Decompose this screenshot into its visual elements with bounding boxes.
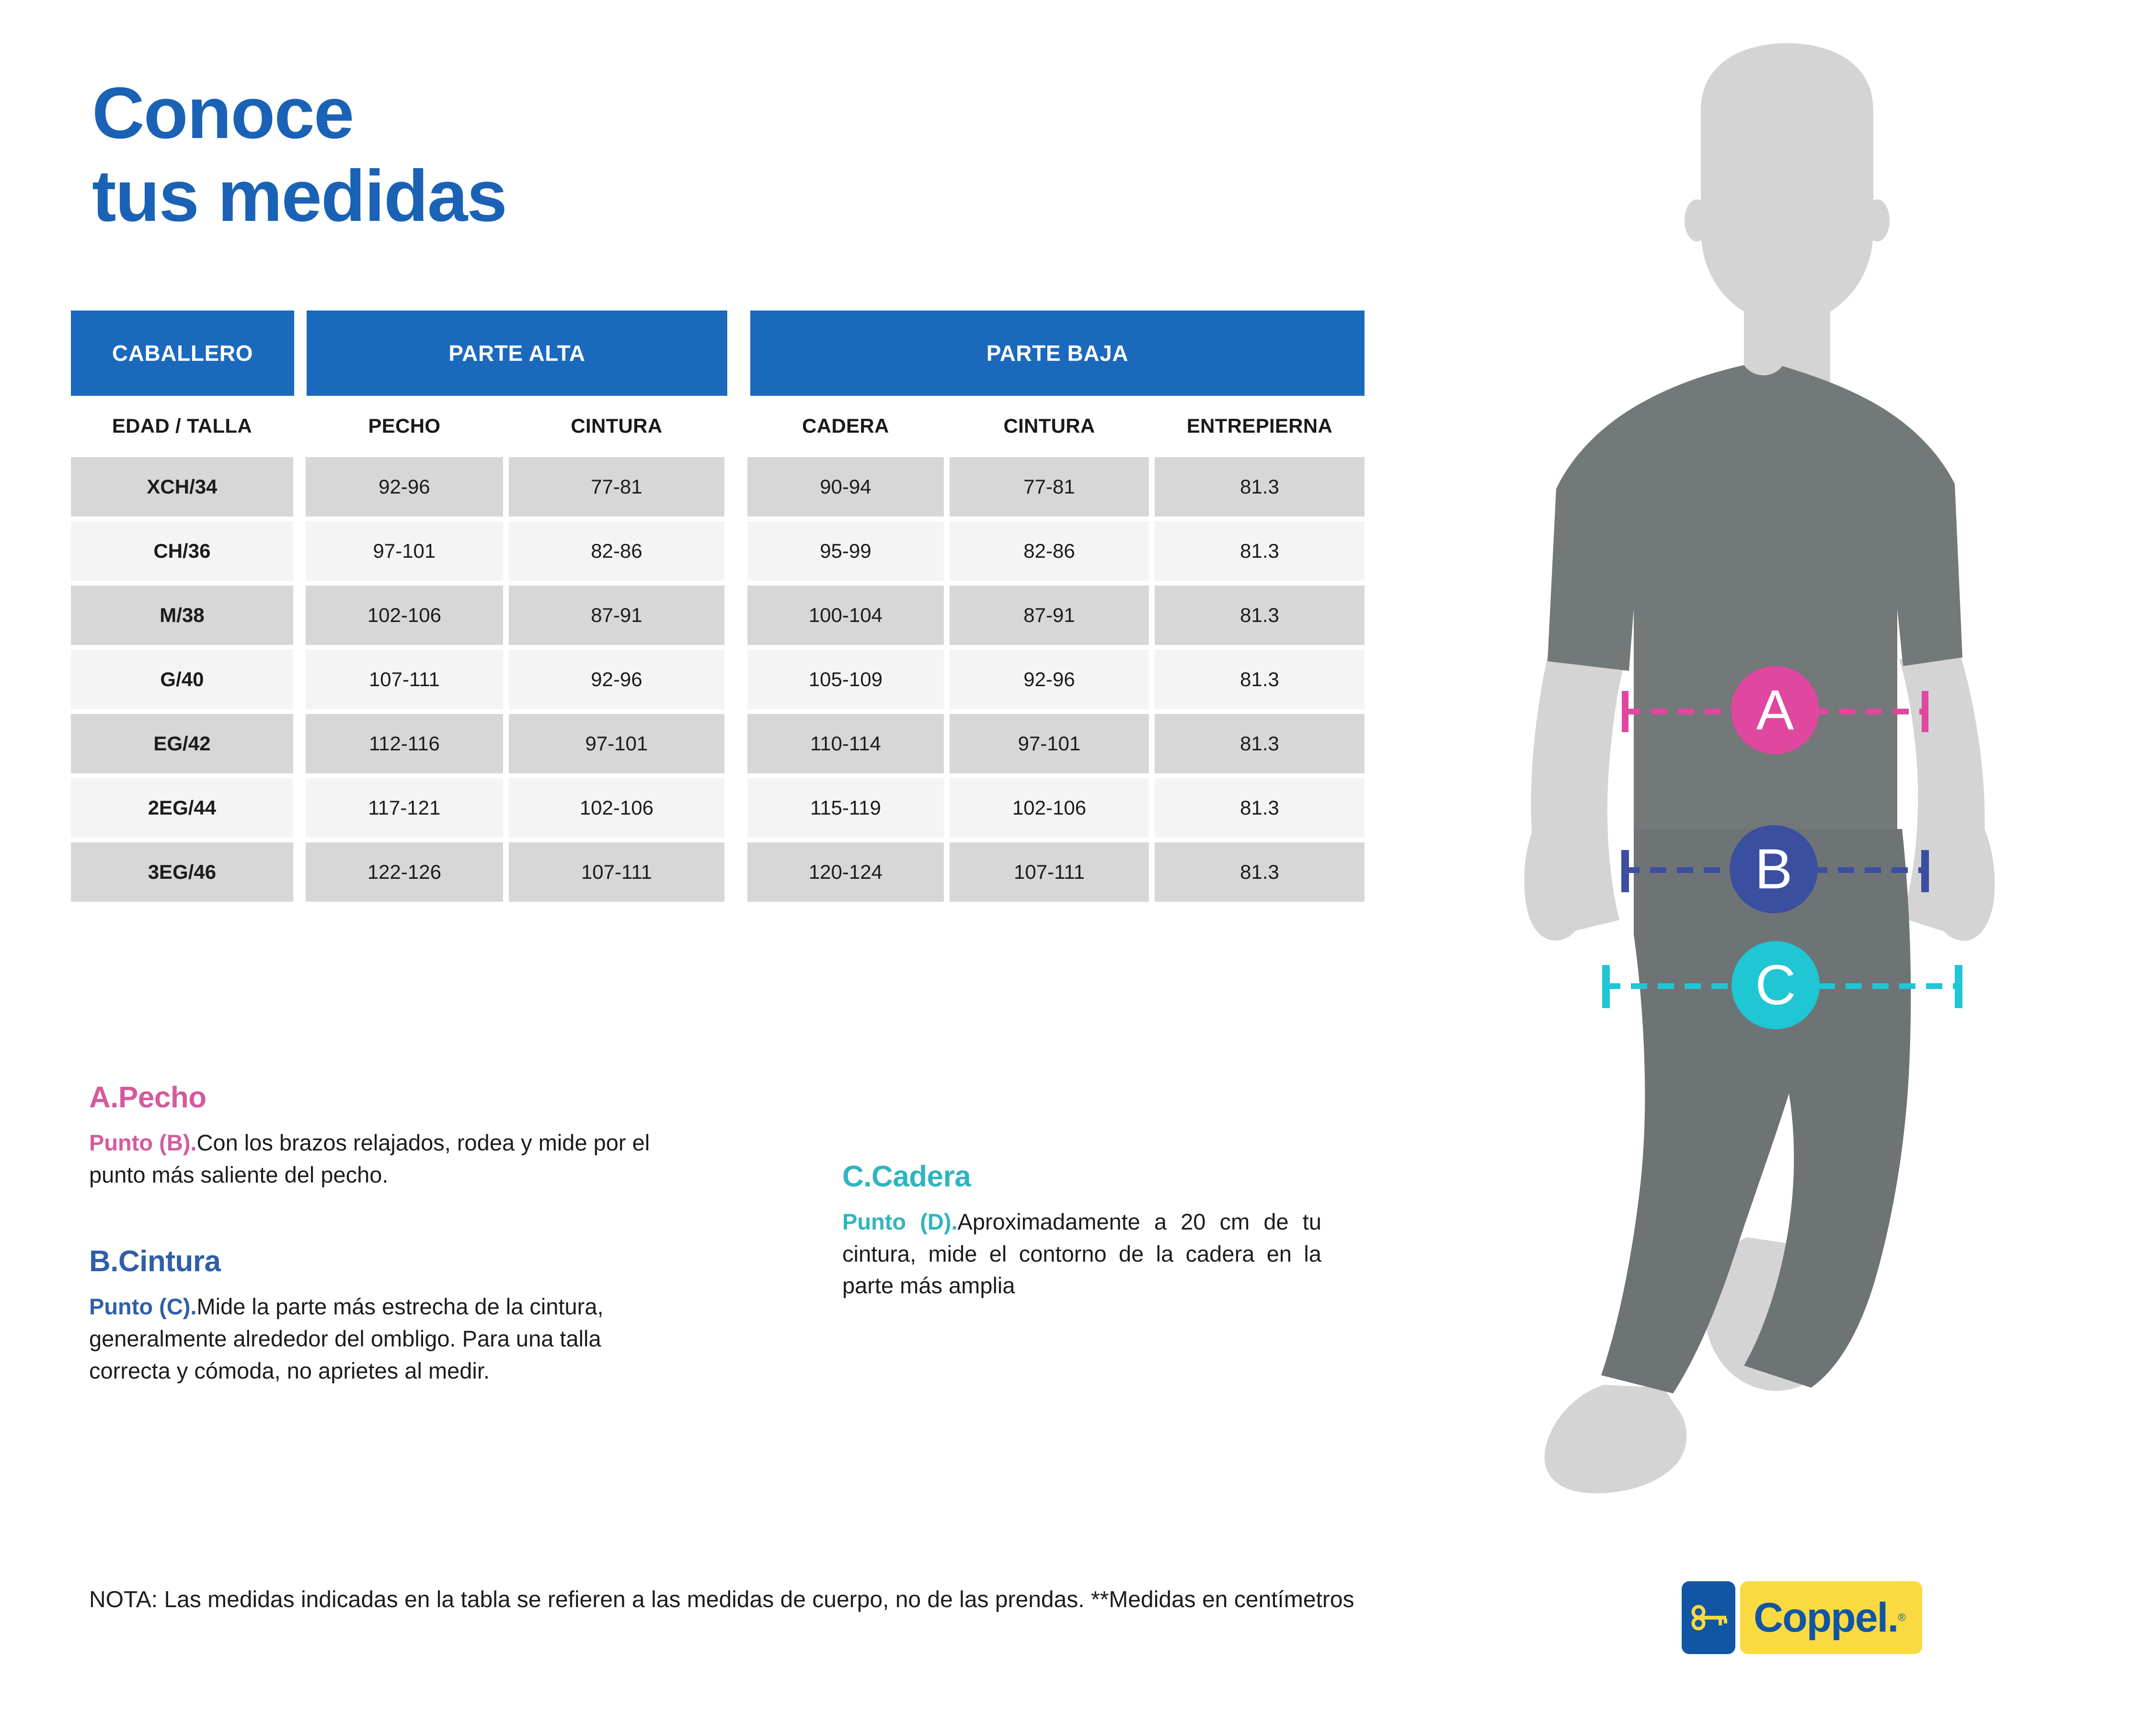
description-heading-cadera: C.Cadera [842,1160,1321,1194]
table-cell-entrepierna: 81.3 [1155,842,1365,902]
page-title: Conoce tus medidas [92,72,954,238]
title-line-1: Conoce [92,72,954,155]
table-cell-size: 2EG/44 [71,778,293,838]
table-row: 2EG/44117-121102-106115-119102-10681.3 [71,778,1365,838]
column-header-edad-talla: EDAD / TALLA [71,400,293,452]
table-cell-cadera: 100-104 [747,586,944,645]
table-row-gap [71,517,1365,521]
table-cell-size: CH/36 [71,521,293,581]
table-row: EG/42112-11697-101110-11497-10181.3 [71,714,1365,773]
male-figure-illustration: A B C [1476,43,2099,1538]
coppel-wordmark-period: . [1887,1597,1898,1638]
marker-a-label: A [1756,678,1794,742]
table-column-header-row: EDAD / TALLA PECHO CINTURA CADERA CINTUR… [71,400,1365,452]
table-cell-cintura-baja: 77-81 [950,457,1149,517]
table-cell-pecho: 122-126 [306,842,503,902]
table-cell-cadera: 90-94 [747,457,944,517]
table-cell-cadera: 115-119 [747,778,944,838]
table-cell-entrepierna: 81.3 [1155,457,1365,517]
description-body-pecho: Punto (B).Con los brazos relajados, rode… [89,1127,683,1191]
table-cell-cintura-baja: 107-111 [950,842,1149,902]
table-cell-cintura-baja: 87-91 [950,586,1149,645]
table-cell-pecho: 107-111 [306,650,503,709]
measurements-table: CABALLERO PARTE ALTA PARTE BAJA EDAD / T… [71,310,1365,902]
table-row: 3EG/46122-126107-111120-124107-11181.3 [71,842,1365,902]
description-body-cadera: Punto (D).Aproximadamente a 20 cm de tu … [842,1206,1321,1302]
description-cadera: C.Cadera Punto (D).Aproximadamente a 20 … [842,1160,1321,1302]
description-cintura: B.Cintura Punto (C).Mide la parte más es… [89,1244,683,1387]
table-cell-cintura-baja: 92-96 [950,650,1149,709]
table-cell-entrepierna: 81.3 [1155,714,1365,773]
table-cell-cadera: 120-124 [747,842,944,902]
table-cell-pecho: 117-121 [306,778,503,838]
description-heading-pecho: A.Pecho [89,1081,683,1115]
table-cell-cadera: 95-99 [747,521,944,581]
table-body: XCH/3492-9677-8190-9477-8181.3CH/3697-10… [71,452,1365,902]
description-lead-cadera: Punto (D). [842,1209,958,1234]
group-header-parte-baja: PARTE BAJA [750,310,1365,396]
table-cell-cintura-alta: 92-96 [509,650,724,709]
table-cell-cadera: 110-114 [747,714,944,773]
description-lead-pecho: Punto (B). [89,1130,197,1155]
coppel-wordmark: Coppel.® [1740,1581,1922,1654]
descriptions-left-column: A.Pecho Punto (B).Con los brazos relajad… [89,1081,683,1387]
table-row: XCH/3492-9677-8190-9477-8181.3 [71,457,1365,517]
group-header-caballero: CABALLERO [71,310,294,396]
descriptions-middle-column: C.Cadera Punto (D).Aproximadamente a 20 … [842,1160,1321,1302]
table-row-gap [71,709,1365,714]
table-cell-cintura-alta: 102-106 [509,778,724,838]
marker-c-label: C [1755,954,1796,1017]
table-cell-cintura-alta: 77-81 [509,457,724,517]
table-cell-pecho: 112-116 [306,714,503,773]
table-cell-cadera: 105-109 [747,650,944,709]
table-cell-size: EG/42 [71,714,293,773]
description-pecho: A.Pecho Punto (B).Con los brazos relajad… [89,1081,683,1191]
table-cell-size: 3EG/46 [71,842,293,902]
table-cell-cintura-baja: 97-101 [950,714,1149,773]
table-group-header-row: CABALLERO PARTE ALTA PARTE BAJA [71,310,1365,396]
table-cell-cintura-baja: 82-86 [950,521,1149,581]
description-lead-cintura: Punto (C). [89,1294,197,1319]
table-cell-pecho: 97-101 [306,521,503,581]
table-row-gap [71,452,1365,457]
table-cell-pecho: 102-106 [306,586,503,645]
table-cell-entrepierna: 81.3 [1155,650,1365,709]
registered-mark: ® [1898,1611,1905,1624]
group-header-parte-alta: PARTE ALTA [307,310,727,396]
title-line-2: tus medidas [92,155,954,238]
description-body-cintura: Punto (C).Mide la parte más estrecha de … [89,1291,683,1387]
table-cell-cintura-alta: 107-111 [509,842,724,902]
table-row-gap [71,581,1365,586]
table-row: M/38102-10687-91100-10487-9181.3 [71,586,1365,645]
table-row: G/40107-11192-96105-10992-9681.3 [71,650,1365,709]
size-chart-page: Conoce tus medidas CABALLERO PARTE ALTA … [0,0,2156,1725]
coppel-wordmark-text: Coppel [1754,1597,1887,1638]
column-header-entrepierna: ENTREPIERNA [1155,400,1365,452]
table-cell-size: G/40 [71,650,293,709]
column-header-cintura-baja: CINTURA [950,400,1149,452]
column-header-pecho: PECHO [306,400,503,452]
coppel-logo: Coppel.® [1682,1581,1922,1654]
table-cell-cintura-alta: 82-86 [509,521,724,581]
description-heading-cintura: B.Cintura [89,1244,683,1278]
column-header-cadera: CADERA [747,400,944,452]
description-spacer [89,1191,683,1244]
key-icon [1682,1581,1735,1654]
table-cell-cintura-alta: 97-101 [509,714,724,773]
table-cell-entrepierna: 81.3 [1155,586,1365,645]
column-header-cintura-alta: CINTURA [509,400,724,452]
table-cell-entrepierna: 81.3 [1155,778,1365,838]
table-row-gap [71,773,1365,778]
table-cell-cintura-alta: 87-91 [509,586,724,645]
table-row-gap [71,645,1365,650]
table-row-gap [71,838,1365,842]
table-row: CH/3697-10182-8695-9982-8681.3 [71,521,1365,581]
table-cell-entrepierna: 81.3 [1155,521,1365,581]
table-cell-size: XCH/34 [71,457,293,517]
marker-b-label: B [1755,838,1793,901]
table-cell-cintura-baja: 102-106 [950,778,1149,838]
table-cell-pecho: 92-96 [306,457,503,517]
table-cell-size: M/38 [71,586,293,645]
note-text: NOTA: Las medidas indicadas en la tabla … [89,1584,1555,1616]
